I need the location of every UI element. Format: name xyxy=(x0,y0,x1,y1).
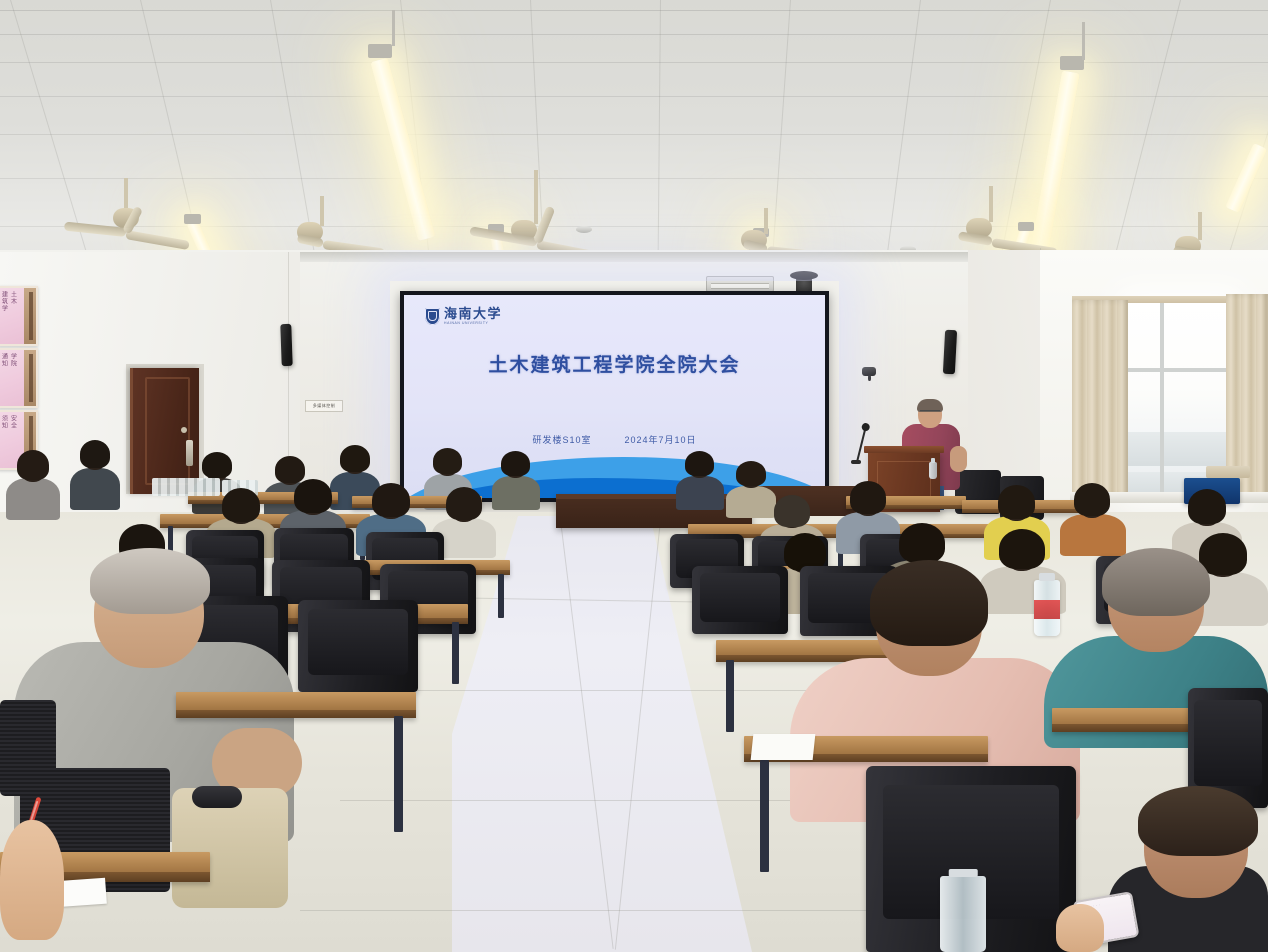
poster-text: 安全 须知 提示 xyxy=(2,415,16,429)
audience-desk xyxy=(176,692,416,718)
person-torso xyxy=(70,468,120,510)
water-bottle xyxy=(940,876,986,952)
poster-text: 土木 建筑学 院公告 xyxy=(2,291,16,312)
wall-speaker-left xyxy=(280,324,292,366)
tube-light-cap xyxy=(184,214,201,224)
person-torso xyxy=(6,478,60,520)
person-hair xyxy=(501,451,530,476)
shield-crest-icon xyxy=(425,308,440,325)
desk-leg xyxy=(760,760,769,872)
person-torso xyxy=(676,476,724,510)
desk-leg xyxy=(498,574,504,618)
smoke-detector xyxy=(576,226,592,233)
ceiling-fan xyxy=(66,178,186,248)
ceiling-grid-line xyxy=(0,34,1268,35)
person-hair xyxy=(222,488,260,522)
window-curtain-left[interactable] xyxy=(1072,300,1128,496)
university-logo: 海南大学 HAINAN UNIVERSITY xyxy=(425,307,502,325)
slide-title: 土木建筑工程学院全院大会 xyxy=(404,350,825,377)
window-mullion xyxy=(1160,300,1164,496)
ceiling-grid-line xyxy=(0,96,1268,97)
floor-tile-line xyxy=(390,690,840,691)
chair-armrest xyxy=(192,786,242,808)
person-hair xyxy=(90,548,210,614)
person-hair xyxy=(998,485,1035,519)
person-hair xyxy=(202,452,232,478)
ceiling-grid-line xyxy=(0,10,1268,11)
bottle-cap xyxy=(949,869,978,877)
person-torso xyxy=(492,476,540,510)
podium-water-bottle xyxy=(929,462,937,479)
person-hair xyxy=(1188,489,1226,524)
window-exterior-view xyxy=(1128,432,1232,466)
ceiling-ac-vent xyxy=(706,276,774,292)
poster-text: 学院 通知 栏目 xyxy=(2,353,16,367)
poster-wood-strip xyxy=(24,288,36,344)
person-hair xyxy=(294,479,332,513)
person-hair xyxy=(17,450,49,480)
tube-light-cap xyxy=(1060,56,1084,70)
logo-text-cn: 海南大学 xyxy=(444,307,502,320)
person-hair xyxy=(850,481,886,514)
audience-chair-mesh-back[interactable] xyxy=(0,700,56,796)
presenter-arm xyxy=(950,446,967,472)
writing-hand xyxy=(0,820,64,940)
wall-poster: 学院 通知 栏目 xyxy=(0,348,38,408)
wall-sign: 多媒体控制 xyxy=(305,400,343,412)
person-hair xyxy=(899,523,945,563)
person-hair xyxy=(685,451,714,476)
person-hair xyxy=(275,456,305,483)
desk-leg xyxy=(726,660,734,732)
slide-subtitle: 研发楼S10室 2024年7月10日 xyxy=(404,433,825,446)
podium-top xyxy=(864,446,944,453)
wall-camera-mount xyxy=(860,364,882,380)
camera-arm xyxy=(868,375,871,381)
person-hair xyxy=(433,448,462,474)
person-hair xyxy=(372,483,410,517)
audience-chair[interactable] xyxy=(298,600,418,692)
slide-date: 2024年7月10日 xyxy=(625,433,697,446)
person-hair xyxy=(1102,548,1210,616)
eyeglasses-icon xyxy=(920,410,940,415)
audience-person xyxy=(6,448,60,518)
wall-speaker-right xyxy=(943,330,957,375)
desk-leg xyxy=(394,716,403,832)
tube-light-cap xyxy=(368,44,392,58)
desk-edge xyxy=(176,710,416,718)
person-hair xyxy=(774,495,810,527)
wall-poster: 土木 建筑学 院公告 xyxy=(0,286,38,346)
person-hair xyxy=(340,445,370,472)
logo-text-en: HAINAN UNIVERSITY xyxy=(444,322,502,325)
phone-holding-hand xyxy=(1056,904,1104,952)
lecture-hall-photo: 土木 建筑学 院公告 学院 通知 栏目 安全 须知 提示 多媒体控制 xyxy=(0,0,1268,952)
ceiling-fan xyxy=(955,186,1075,258)
poster-wood-strip xyxy=(24,350,36,406)
person-hair xyxy=(870,560,988,646)
supply-box xyxy=(1206,466,1250,478)
person-hair xyxy=(1074,483,1110,516)
slide-room: 研发楼S10室 xyxy=(532,433,591,446)
handout-paper xyxy=(751,734,816,760)
window-mullion xyxy=(1128,368,1232,372)
ceiling-grid-line xyxy=(0,134,1268,135)
audience-person xyxy=(1060,484,1126,556)
audience-person xyxy=(70,440,120,510)
person-hair xyxy=(446,487,482,520)
person-hair xyxy=(1138,786,1258,856)
microphone-base xyxy=(851,460,861,464)
audience-chair[interactable] xyxy=(692,566,788,634)
desk-leg xyxy=(452,622,459,684)
person-hair xyxy=(80,440,110,468)
audience-person xyxy=(676,452,724,510)
tube-light-stem xyxy=(1082,22,1085,60)
floor-tile-line xyxy=(300,910,960,911)
audience-person xyxy=(492,452,540,510)
tube-light-stem xyxy=(392,10,395,46)
person-hair xyxy=(736,461,766,486)
entry-door[interactable] xyxy=(130,368,199,494)
